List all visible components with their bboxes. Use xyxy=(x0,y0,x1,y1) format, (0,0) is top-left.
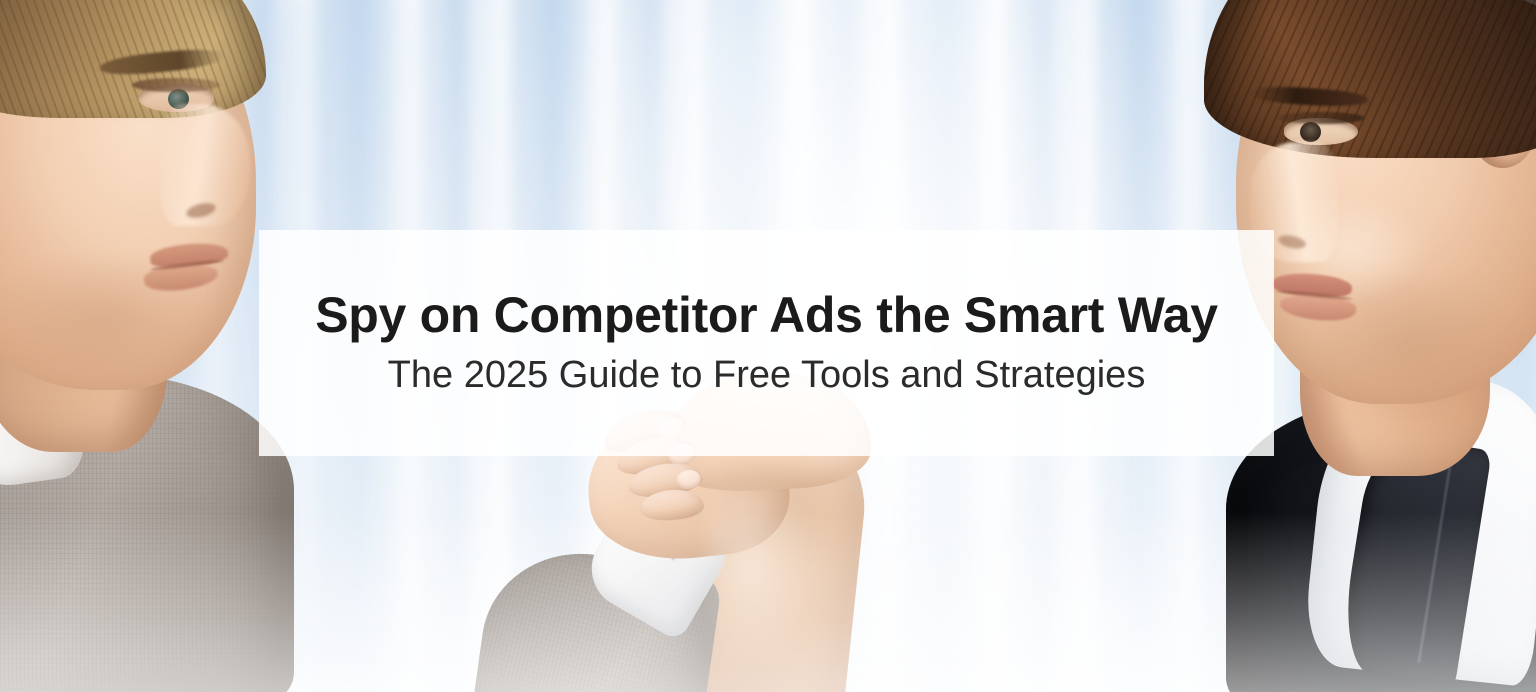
businesswoman-jaw-shadow xyxy=(1306,278,1516,418)
hero-title: Spy on Competitor Ads the Smart Way xyxy=(315,287,1218,343)
wrist-highlight xyxy=(706,488,816,668)
hero-banner: Spy on Competitor Ads the Smart Way The … xyxy=(0,0,1536,692)
businessman-jaw-shadow xyxy=(0,262,196,392)
hero-text-panel: Spy on Competitor Ads the Smart Way The … xyxy=(259,230,1274,456)
hero-subtitle: The 2025 Guide to Free Tools and Strateg… xyxy=(388,353,1146,399)
businesswoman-hair xyxy=(1204,0,1536,158)
businessman-eyelid xyxy=(132,78,220,92)
hair-strand-texture-front xyxy=(1204,0,1536,158)
businesswoman-eyeliner xyxy=(1278,112,1364,124)
businesswoman-iris xyxy=(1300,122,1321,142)
